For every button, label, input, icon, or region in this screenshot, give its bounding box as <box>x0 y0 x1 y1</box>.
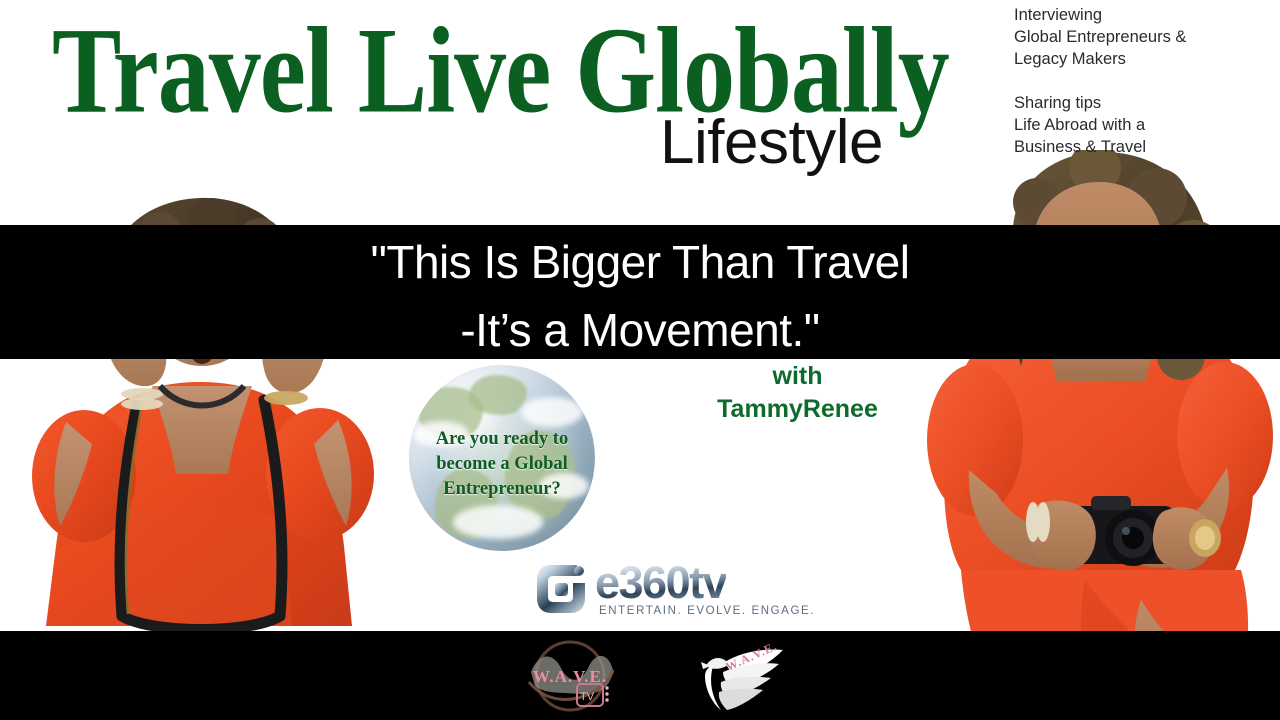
svg-text:TV: TV <box>580 691 595 703</box>
tagline-line-4: Sharing tips <box>1014 92 1276 114</box>
tagline-line-3: Legacy Makers <box>1014 48 1276 70</box>
globe-caption-line-2: become a Global <box>409 452 595 477</box>
wave-tv-logo: W.A.V.E. TV <box>515 638 625 714</box>
tagline-line-1: Interviewing <box>1014 4 1276 26</box>
tagline-line-2: Global Entrepreneurs & <box>1014 26 1276 48</box>
e360tv-tagline: ENTERTAIN. EVOLVE. ENGAGE. <box>599 605 815 617</box>
e360tv-logo: e360tv ENTERTAIN. EVOLVE. ENGAGE. <box>533 559 783 621</box>
e360tv-mark-icon <box>533 561 589 617</box>
tagline-spacer <box>1014 70 1276 92</box>
e360tv-wordmark: e360tv <box>595 559 726 607</box>
wave-tv-mark-icon: W.A.V.E. TV <box>515 638 625 714</box>
globe-caption: Are you ready to become a Global Entrepr… <box>409 427 595 502</box>
footer-bar <box>0 631 1280 720</box>
globe-graphic: Are you ready to become a Global Entrepr… <box>409 365 595 551</box>
host-name: TammyRenee <box>660 393 935 426</box>
wave-wing-logo: W.A.V.E. <box>695 638 790 714</box>
page-subtitle: Lifestyle <box>660 112 883 174</box>
wave-wing-mark-icon: W.A.V.E. <box>695 638 790 714</box>
tagline-line-5: Life Abroad with a <box>1014 114 1276 136</box>
thumbnail-canvas: Travel Live Globally Lifestyle Interview… <box>0 0 1280 720</box>
host-credit: with TammyRenee <box>660 360 935 426</box>
globe-caption-line-1: Are you ready to <box>409 427 595 452</box>
tagline-line-6: Business & Travel <box>1014 136 1276 158</box>
quote-banner <box>0 225 1280 359</box>
host-prefix: with <box>660 360 935 393</box>
show-description: Interviewing Global Entrepreneurs & Lega… <box>1014 4 1276 158</box>
globe-caption-line-3: Entrepreneur? <box>409 477 595 502</box>
